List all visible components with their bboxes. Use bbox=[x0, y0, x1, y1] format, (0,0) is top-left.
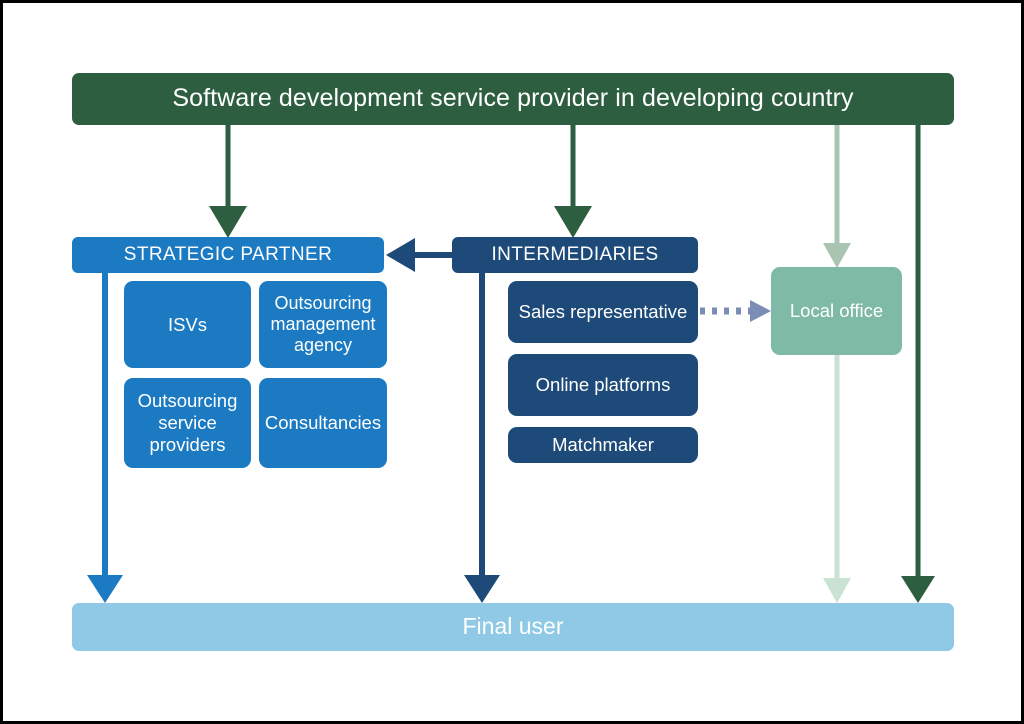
provider-header-label: Software development service provider in… bbox=[172, 84, 853, 114]
connector-intermediaries-to-strategic-partner bbox=[386, 238, 452, 272]
card-label: Online platforms bbox=[536, 374, 671, 396]
connector-strategic-partner-to-final-user bbox=[87, 262, 123, 603]
provider-header-box[interactable]: Software development service provider in… bbox=[72, 73, 954, 125]
card-label: Sales representative bbox=[519, 301, 688, 323]
strategic-partner-card-isvs[interactable]: ISVs bbox=[124, 281, 251, 368]
connector-provider-to-intermediaries bbox=[554, 125, 592, 238]
connector-sales-representative-to-local-office bbox=[700, 300, 771, 322]
intermediaries-card-matchmaker[interactable]: Matchmaker bbox=[508, 427, 698, 463]
intermediaries-header-label: INTERMEDIARIES bbox=[491, 244, 658, 266]
card-label: Outsourcing service providers bbox=[124, 390, 251, 455]
card-label: Outsourcing management agency bbox=[259, 293, 387, 357]
final-user-box[interactable]: Final user bbox=[72, 603, 954, 651]
value-chain-diagram: Software development service provider in… bbox=[0, 0, 1024, 724]
card-label: ISVs bbox=[168, 314, 207, 336]
card-label: Consultancies bbox=[265, 412, 381, 434]
strategic-partner-header-label: STRATEGIC PARTNER bbox=[124, 244, 332, 266]
strategic-partner-card-consultancies[interactable]: Consultancies bbox=[259, 378, 387, 468]
strategic-partner-card-outsourcing-management-agency[interactable]: Outsourcing management agency bbox=[259, 281, 387, 368]
intermediaries-card-online-platforms[interactable]: Online platforms bbox=[508, 354, 698, 416]
connector-provider-to-local-office bbox=[823, 125, 851, 268]
local-office-box[interactable]: Local office bbox=[771, 267, 902, 355]
connector-local-office-to-final-user bbox=[823, 355, 851, 603]
intermediaries-header-box[interactable]: INTERMEDIARIES bbox=[452, 237, 698, 273]
card-label: Matchmaker bbox=[552, 434, 654, 456]
local-office-label: Local office bbox=[790, 300, 883, 322]
strategic-partner-header-box[interactable]: STRATEGIC PARTNER bbox=[72, 237, 384, 273]
strategic-partner-card-outsourcing-service-providers[interactable]: Outsourcing service providers bbox=[124, 378, 251, 468]
intermediaries-card-sales-representative[interactable]: Sales representative bbox=[508, 281, 698, 343]
final-user-label: Final user bbox=[463, 613, 564, 640]
connector-intermediaries-to-final-user bbox=[464, 262, 500, 603]
connector-provider-to-final-user bbox=[901, 125, 935, 603]
connector-provider-to-strategic-partner bbox=[209, 125, 247, 238]
